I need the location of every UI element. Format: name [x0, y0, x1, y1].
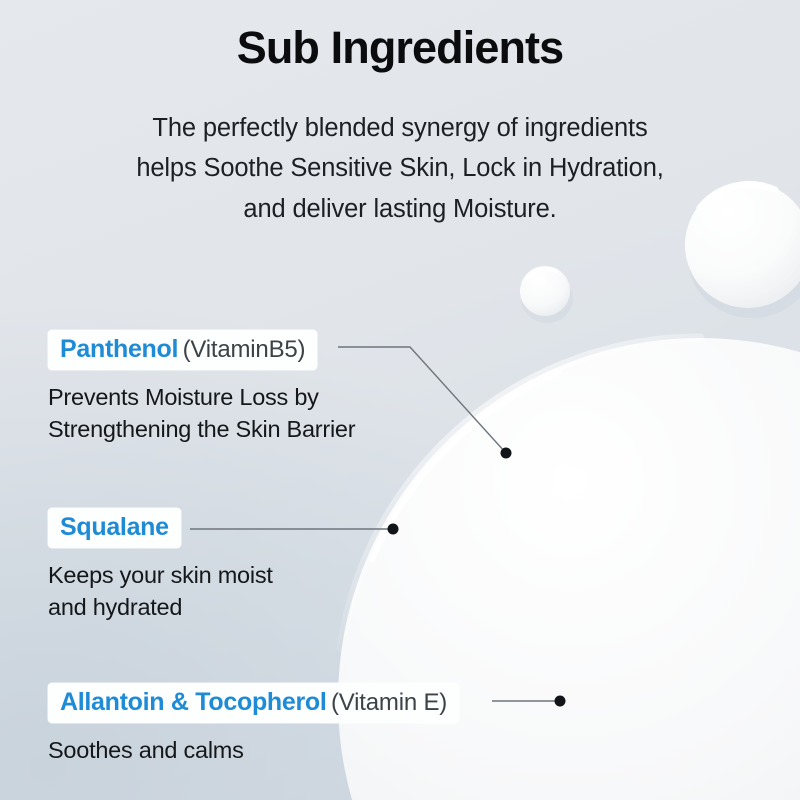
ingredient-alias: (Vitamin E)	[331, 689, 447, 716]
ingredient-description-squalane: Keeps your skin moist and hydrated	[48, 559, 273, 623]
ingredient-name: Allantoin & Tocopherol	[60, 688, 327, 716]
page-subtitle: The perfectly blended synergy of ingredi…	[0, 108, 800, 229]
ingredient-name: Panthenol	[60, 335, 178, 363]
subtitle-line-3: and deliver lasting Moisture.	[0, 189, 800, 229]
ingredient-infographic: Sub Ingredients The perfectly blended sy…	[0, 0, 800, 800]
ingredient-item-squalane: Squalane Keeps your skin moist and hydra…	[48, 508, 273, 623]
ingredient-item-panthenol: Panthenol (VitaminB5) Prevents Moisture …	[48, 330, 355, 445]
ingredient-alias: (VitaminB5)	[183, 336, 306, 363]
leader-squalane-dot	[388, 524, 399, 535]
ingredient-label-allantoin-tocopherol: Allantoin & Tocopherol (Vitamin E)	[48, 683, 459, 723]
ingredient-item-allantoin-tocopherol: Allantoin & Tocopherol (Vitamin E) Sooth…	[48, 683, 459, 766]
page-title: Sub Ingredients	[0, 24, 800, 73]
subtitle-line-1: The perfectly blended synergy of ingredi…	[0, 108, 800, 148]
ingredient-description-allantoin-tocopherol: Soothes and calms	[48, 734, 459, 766]
subtitle-line-2: helps Soothe Sensitive Skin, Lock in Hyd…	[0, 148, 800, 188]
description-line: Keeps your skin moist	[48, 559, 273, 591]
description-line: Prevents Moisture Loss by	[48, 381, 355, 413]
description-line: and hydrated	[48, 591, 273, 623]
ingredient-name: Squalane	[60, 513, 169, 541]
leader-panthenol	[338, 347, 505, 452]
ingredient-label-panthenol: Panthenol (VitaminB5)	[48, 330, 317, 370]
description-line: Soothes and calms	[48, 734, 459, 766]
ingredient-description-panthenol: Prevents Moisture Loss by Strengthening …	[48, 381, 355, 445]
leader-allantoin-dot	[555, 696, 566, 707]
ingredient-label-squalane: Squalane	[48, 508, 181, 548]
leader-panthenol-dot	[501, 448, 512, 459]
description-line: Strengthening the Skin Barrier	[48, 413, 355, 445]
